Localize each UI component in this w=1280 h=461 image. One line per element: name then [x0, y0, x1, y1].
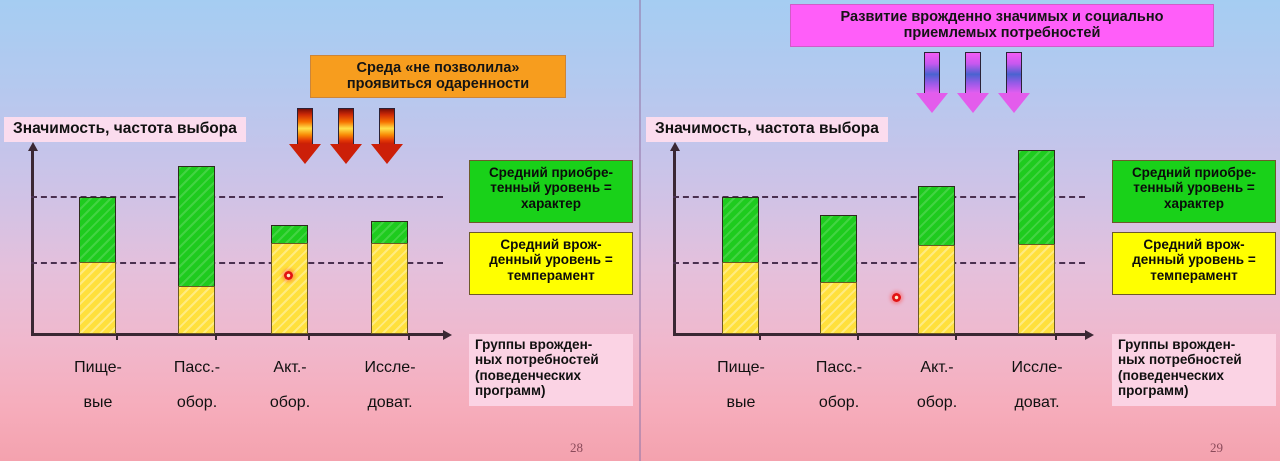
page-number: 28: [570, 440, 583, 456]
x-tick: [408, 333, 410, 340]
legend-line: характер: [475, 196, 627, 211]
down-arrow-icon: [998, 52, 1030, 114]
caption-line: Группы врожден-: [475, 337, 627, 352]
x-label-line: обор.: [249, 394, 331, 412]
x-tick: [308, 333, 310, 340]
caption-line: ных потребностей: [475, 352, 627, 367]
x-tick: [955, 333, 957, 340]
x-label-active-defense: Акт.- обор.: [896, 341, 978, 429]
legend-line: денный уровень =: [475, 252, 627, 267]
caption-line: ных потребностей: [1118, 352, 1270, 367]
bar-segment-acquired: [820, 215, 857, 283]
x-label-line: Пище-: [57, 359, 139, 377]
bar-segment-acquired: [1018, 150, 1055, 245]
x-label-line: Иссле-: [996, 359, 1078, 377]
legend-line: характер: [1118, 196, 1270, 211]
bar-segment-acquired: [271, 225, 308, 244]
legend-line: Средний приобре-: [1118, 165, 1270, 180]
x-label-research: Иссле- доват.: [996, 341, 1078, 429]
x-label-line: Пасс.-: [156, 359, 238, 377]
down-arrow-icon: [371, 108, 403, 165]
y-axis: [31, 150, 34, 336]
down-arrow-icon: [330, 108, 362, 165]
x-label-line: Акт.-: [249, 359, 331, 377]
bar-segment-innate: [820, 282, 857, 334]
legend-line: тенный уровень =: [1118, 180, 1270, 195]
caption-line: (поведенческих: [475, 368, 627, 383]
x-axis-arrowhead-icon: [443, 330, 452, 340]
bar-segment-innate: [1018, 244, 1055, 334]
bar-segment-acquired: [79, 197, 116, 263]
legend-acquired-level: Средний приобре- тенный уровень = характ…: [469, 160, 633, 223]
down-arrow-icon: [289, 108, 321, 165]
slide-divider: [639, 0, 641, 461]
y-axis-arrowhead-icon: [28, 142, 38, 151]
bar-segment-innate: [722, 262, 759, 334]
legend-acquired-level: Средний приобре- тенный уровень = характ…: [1112, 160, 1276, 223]
bar-segment-acquired: [918, 186, 955, 246]
bar-segment-innate: [918, 245, 955, 334]
legend-line: тенный уровень =: [475, 180, 627, 195]
x-label-research: Иссле- доват.: [349, 341, 431, 429]
down-arrow-icon: [957, 52, 989, 114]
x-label-line: Пище-: [700, 359, 782, 377]
x-tick: [215, 333, 217, 340]
bar-segment-acquired: [722, 197, 759, 263]
pointer-dot-marker: [892, 293, 901, 302]
x-label-line: доват.: [349, 394, 431, 412]
legend-line: Средний врож-: [475, 237, 627, 252]
bar-segment-acquired: [178, 166, 215, 287]
y-axis-label: Значимость, частота выбора: [646, 117, 888, 142]
caption-line: программ): [475, 383, 627, 398]
x-label-line: Акт.-: [896, 359, 978, 377]
x-axis-caption: Группы врожден- ных потребностей (поведе…: [1112, 334, 1276, 406]
slide-28-banner: Среда «не позволила» проявиться одаренно…: [310, 55, 566, 98]
x-label-line: обор.: [798, 394, 880, 412]
down-arrow-icon: [916, 52, 948, 114]
slide-29-banner: Развитие врожденно значимых и социально …: [790, 4, 1214, 47]
legend-line: темперамент: [475, 268, 627, 283]
x-label-food: Пище- вые: [57, 341, 139, 429]
legend-line: денный уровень =: [1118, 252, 1270, 267]
legend-innate-level: Средний врож- денный уровень = темпераме…: [1112, 232, 1276, 295]
bar-segment-acquired: [371, 221, 408, 244]
slide-29: Развитие врожденно значимых и социально …: [640, 0, 1280, 461]
legend-line: Средний приобре-: [475, 165, 627, 180]
page-number: 29: [1210, 440, 1223, 456]
x-label-food: Пище- вые: [700, 341, 782, 429]
x-label-active-defense: Акт.- обор.: [249, 341, 331, 429]
caption-line: Группы врожден-: [1118, 337, 1270, 352]
x-label-passive-defense: Пасс.- обор.: [156, 341, 238, 429]
bar-segment-innate: [178, 286, 215, 334]
slide-28: Среда «не позволила» проявиться одаренно…: [0, 0, 640, 461]
x-label-line: вые: [57, 394, 139, 412]
x-tick: [857, 333, 859, 340]
caption-line: программ): [1118, 383, 1270, 398]
x-tick: [116, 333, 118, 340]
legend-innate-level: Средний врож- денный уровень = темпераме…: [469, 232, 633, 295]
caption-line: (поведенческих: [1118, 368, 1270, 383]
slide-pair-stage: Среда «не позволила» проявиться одаренно…: [0, 0, 1280, 461]
y-axis-label: Значимость, частота выбора: [4, 117, 246, 142]
legend-line: Средний врож-: [1118, 237, 1270, 252]
x-label-line: доват.: [996, 394, 1078, 412]
x-label-passive-defense: Пасс.- обор.: [798, 341, 880, 429]
y-axis: [673, 150, 676, 336]
y-axis-arrowhead-icon: [670, 142, 680, 151]
x-label-line: обор.: [156, 394, 238, 412]
x-label-line: обор.: [896, 394, 978, 412]
bar-segment-innate: [79, 262, 116, 334]
x-axis-caption: Группы врожден- ных потребностей (поведе…: [469, 334, 633, 406]
x-tick: [759, 333, 761, 340]
x-tick: [1055, 333, 1057, 340]
bar-segment-innate: [271, 243, 308, 334]
pointer-dot-marker: [284, 271, 293, 280]
x-label-line: Иссле-: [349, 359, 431, 377]
bar-segment-innate: [371, 243, 408, 334]
x-label-line: вые: [700, 394, 782, 412]
x-label-line: Пасс.-: [798, 359, 880, 377]
legend-line: темперамент: [1118, 268, 1270, 283]
x-axis-arrowhead-icon: [1085, 330, 1094, 340]
